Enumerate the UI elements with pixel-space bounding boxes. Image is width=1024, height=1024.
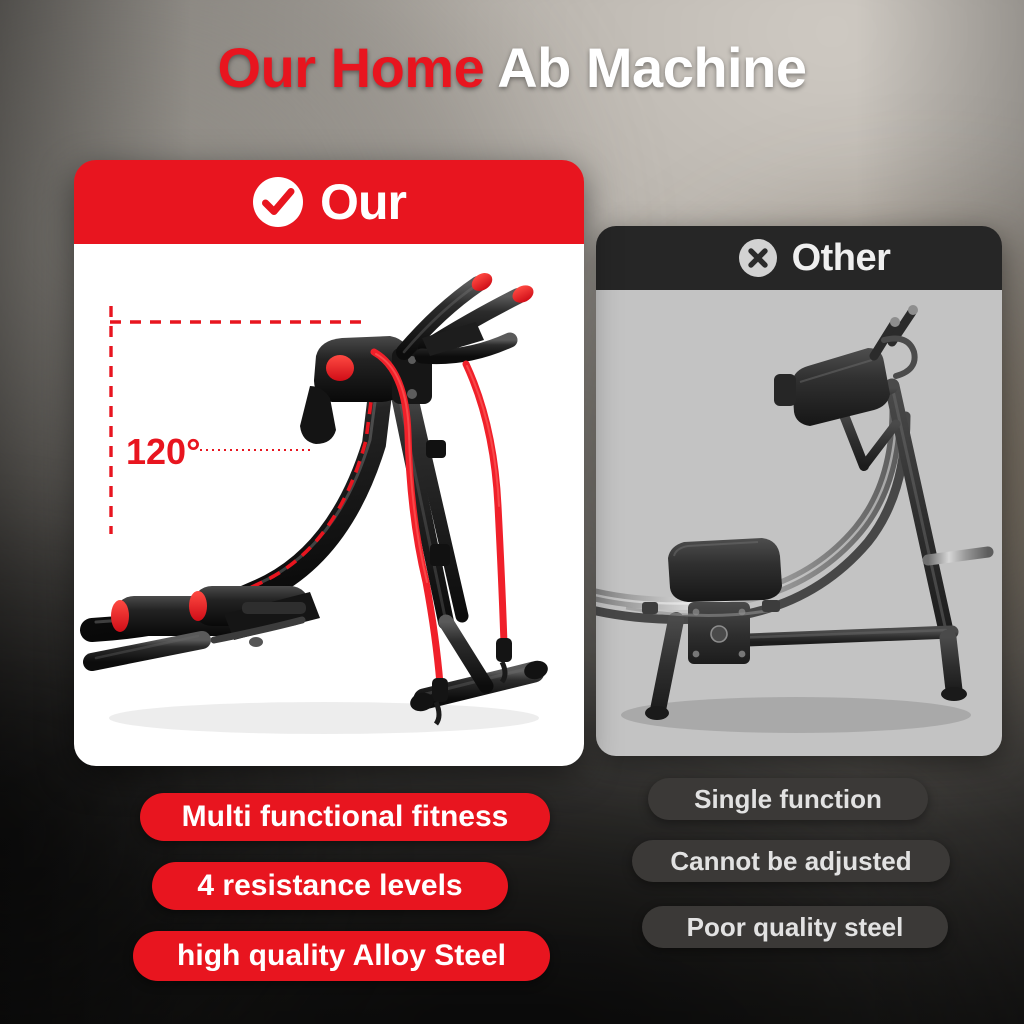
our-feature-label: high quality Alloy Steel xyxy=(177,939,506,973)
angle-annotation: 120° xyxy=(126,431,310,472)
page-title-product: Ab Machine xyxy=(484,36,806,99)
other-drawback-label: Single function xyxy=(694,784,882,815)
our-feature-label: 4 resistance levels xyxy=(197,869,462,903)
other-product-image xyxy=(596,290,1002,756)
other-card-header: Other xyxy=(596,226,1002,290)
our-card-title: Our xyxy=(320,173,406,231)
other-drawback-label: Cannot be adjusted xyxy=(670,846,911,877)
page-title: Our Home Ab Machine xyxy=(0,40,1024,96)
check-circle-icon xyxy=(252,176,304,228)
other-card-title: Other xyxy=(792,237,891,280)
other-drawback-pill[interactable]: Cannot be adjusted xyxy=(632,840,950,882)
other-drawback-pill[interactable]: Single function xyxy=(648,778,928,820)
page-title-brand: Our Home xyxy=(218,36,485,99)
our-card-header: Our xyxy=(74,160,584,244)
our-machine-illustration: 120° xyxy=(74,244,584,766)
our-feature-pill[interactable]: 4 resistance levels xyxy=(152,862,508,910)
other-drawback-label: Poor quality steel xyxy=(687,912,904,943)
angle-label: 120° xyxy=(126,431,200,472)
x-circle-icon xyxy=(738,238,778,278)
our-feature-pill[interactable]: Multi functional fitness xyxy=(140,793,550,841)
our-feature-pill[interactable]: high quality Alloy Steel xyxy=(133,931,550,981)
our-comparison-card: Our xyxy=(74,160,584,766)
other-comparison-card: Other xyxy=(596,226,1002,756)
our-feature-label: Multi functional fitness xyxy=(182,800,509,834)
other-machine-illustration xyxy=(596,290,1002,756)
other-drawback-pill[interactable]: Poor quality steel xyxy=(642,906,948,948)
our-product-image: 120° xyxy=(74,244,584,766)
